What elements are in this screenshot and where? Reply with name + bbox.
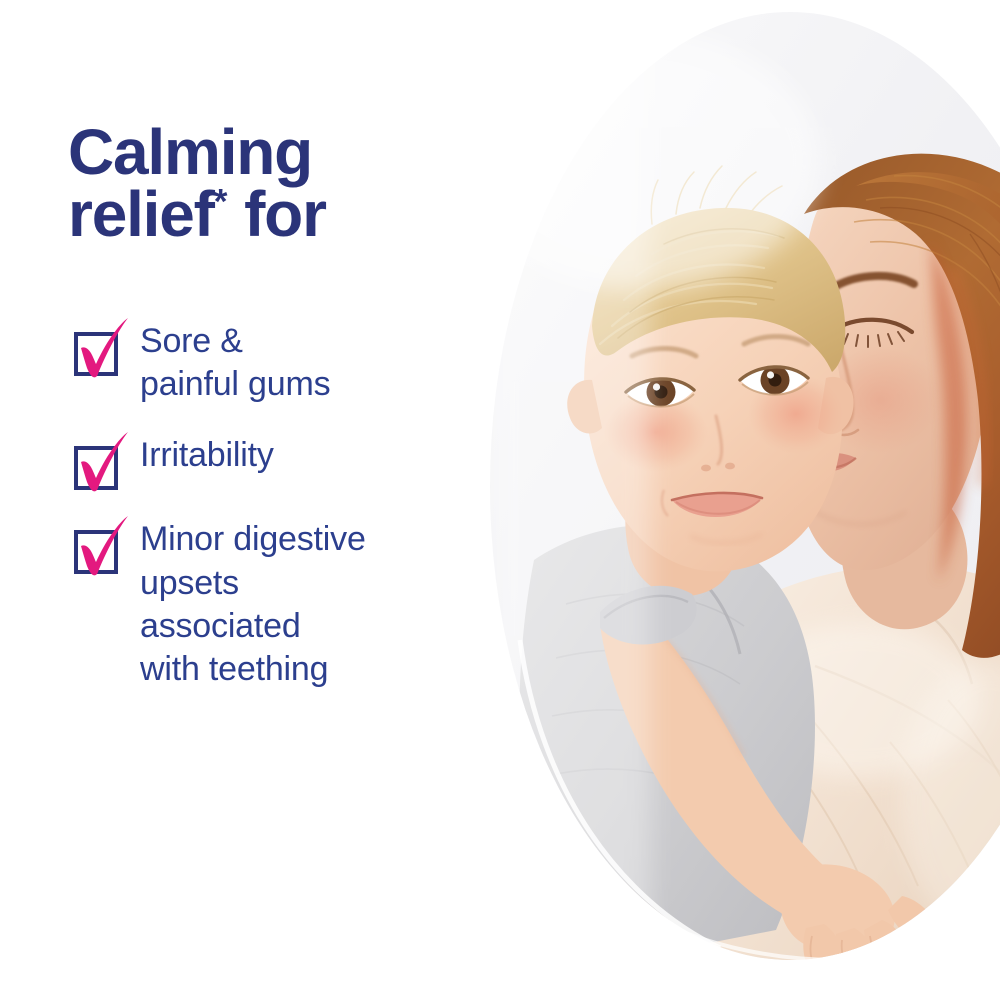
promo-banner: Calmingrelief* for Sore & painful gums	[0, 0, 1000, 1000]
checkbox-checked[interactable]	[68, 324, 120, 376]
checkbox-box	[74, 332, 118, 376]
headline-line-2: relief	[68, 178, 214, 250]
checkbox-checked[interactable]	[68, 438, 120, 490]
list-item: Minor digestive upsets associated with t…	[68, 516, 508, 691]
checkbox-box	[74, 446, 118, 490]
page-title: Calmingrelief* for	[68, 121, 498, 245]
benefits-list: Sore & painful gums Irritability	[68, 318, 508, 691]
headline-line-2-tail: for	[227, 178, 325, 250]
list-item-label: Irritability	[140, 432, 274, 477]
checkbox-box	[74, 530, 118, 574]
text-column: Calmingrelief* for Sore & painful gums	[0, 0, 510, 1000]
asterisk-marker: *	[214, 183, 228, 222]
list-item-label: Minor digestive upsets associated with t…	[140, 516, 366, 691]
list-item: Irritability	[68, 432, 508, 490]
list-item: Sore & painful gums	[68, 318, 508, 406]
list-item-label: Sore & painful gums	[140, 318, 330, 406]
checkbox-checked[interactable]	[68, 522, 120, 574]
